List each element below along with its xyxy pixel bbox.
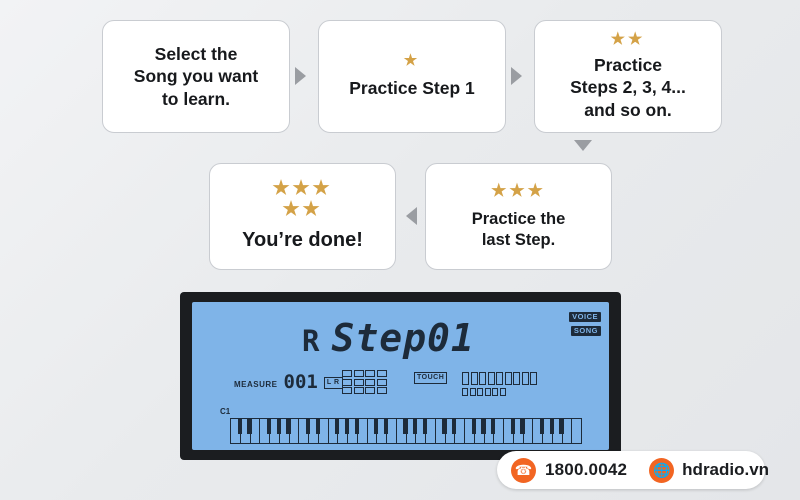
arrow-right-icon: [295, 67, 306, 85]
piano-key: [387, 419, 397, 443]
piano-key: [426, 419, 436, 443]
lcd-track-label: R: [302, 324, 319, 358]
lcd-step-value: Step01: [331, 316, 474, 360]
meter-bar: [496, 372, 503, 385]
piano-key: [397, 419, 407, 443]
arrow-right-icon: [511, 67, 522, 85]
chord-cell: [342, 387, 352, 394]
meter-bar: [479, 372, 486, 385]
piano-key: [514, 419, 524, 443]
indicator-cell: [492, 388, 498, 396]
lcd-piano-strip: [230, 418, 582, 444]
indicator-cell: [462, 388, 468, 396]
phone-icon: ☎: [511, 458, 536, 483]
star-rating-row-2: ★★: [282, 200, 322, 219]
flow-box-practice-step-1: ★ Practice Step 1: [318, 20, 506, 133]
chord-cell: [377, 379, 387, 386]
piano-key: [251, 419, 261, 443]
chord-cell: [354, 370, 364, 377]
lcd-octave-tick: C1: [220, 407, 230, 416]
chord-cell: [365, 387, 375, 394]
star-rating: ★★★: [272, 179, 332, 198]
chord-cell: [365, 370, 375, 377]
indicator-cell: [477, 388, 483, 396]
meter-bar: [530, 372, 537, 385]
lcd-voice-tag: VOICE: [569, 312, 601, 322]
globe-icon: 🌐: [649, 458, 674, 483]
piano-key: [563, 419, 573, 443]
piano-key: [280, 419, 290, 443]
piano-key: [455, 419, 465, 443]
piano-key: [572, 419, 581, 443]
indicator-cell: [485, 388, 491, 396]
piano-key: [348, 419, 358, 443]
piano-key: [475, 419, 485, 443]
flow-box-label: Practice Step 1: [349, 77, 474, 99]
star-rating: ★★: [611, 32, 646, 48]
flow-box-select-song: Select the Song you want to learn.: [102, 20, 290, 133]
piano-key: [368, 419, 378, 443]
arrow-left-icon: [406, 207, 417, 225]
chord-cell: [354, 379, 364, 386]
diagram-page: Select the Song you want to learn. ★ Pra…: [0, 0, 800, 500]
lcd-measure-label: MEASURE: [234, 380, 278, 391]
lcd-touch-indicator: TOUCH: [414, 372, 447, 384]
piano-key: [270, 419, 280, 443]
lcd-lr-indicator: L R: [324, 377, 343, 389]
meter-bar: [462, 372, 469, 385]
indicator-cell: [470, 388, 476, 396]
piano-key: [309, 419, 319, 443]
piano-key: [338, 419, 348, 443]
lcd-measure-readout: MEASURE 001 L R: [234, 374, 343, 391]
chord-cell: [342, 379, 352, 386]
meter-bar: [522, 372, 529, 385]
flow-box-label: Select the Song you want to learn.: [134, 43, 258, 110]
piano-key: [290, 419, 300, 443]
lcd-step-readout: R Step01: [302, 316, 475, 360]
piano-key: [231, 419, 241, 443]
piano-key: [416, 419, 426, 443]
chord-cell: [342, 370, 352, 377]
piano-key: [329, 419, 339, 443]
piano-key: [319, 419, 329, 443]
lcd-measure-value: 001: [284, 374, 318, 391]
keyboard-device: R Step01 VOICE SONG MEASURE 001 L R: [180, 292, 621, 460]
meter-bar: [471, 372, 478, 385]
flow-box-practice-steps-2-3-4: ★★ Practice Steps 2, 3, 4... and so on.: [534, 20, 722, 133]
piano-key: [504, 419, 514, 443]
chord-cell: [377, 370, 387, 377]
flow-box-label: Practice the last Step.: [472, 209, 566, 251]
badge-phone-number: 1800.0042: [545, 460, 627, 480]
star-rating: ★: [404, 53, 420, 68]
piano-key: [533, 419, 543, 443]
arrow-down-icon: [574, 140, 592, 151]
meter-bar: [505, 372, 512, 385]
piano-key: [553, 419, 563, 443]
piano-key: [524, 419, 534, 443]
indicator-cell: [500, 388, 506, 396]
flow-box-youre-done: ★★★ ★★ You’re done!: [209, 163, 396, 270]
piano-key: [260, 419, 270, 443]
flow-box-practice-last-step: ★★★ Practice the last Step.: [425, 163, 612, 270]
chord-cell: [354, 387, 364, 394]
piano-key: [358, 419, 368, 443]
contact-badge: ☎ 1800.0042 🌐 hdradio.vn: [497, 451, 765, 489]
flow-box-label: Practice Steps 2, 3, 4... and so on.: [570, 54, 686, 121]
piano-key: [299, 419, 309, 443]
piano-key: [485, 419, 495, 443]
piano-key: [436, 419, 446, 443]
piano-key: [494, 419, 504, 443]
lcd-chord-grid: [342, 370, 387, 394]
star-rating: ★★★: [491, 182, 546, 199]
flow-box-label: You’re done!: [242, 228, 363, 254]
piano-key: [446, 419, 456, 443]
piano-key: [465, 419, 475, 443]
piano-key: [407, 419, 417, 443]
lcd-screen: R Step01 VOICE SONG MEASURE 001 L R: [192, 302, 609, 450]
piano-key: [377, 419, 387, 443]
lcd-bar-meter: [462, 372, 537, 385]
chord-cell: [377, 387, 387, 394]
meter-bar: [488, 372, 495, 385]
chord-cell: [365, 379, 375, 386]
meter-bar: [513, 372, 520, 385]
badge-website: hdradio.vn: [682, 460, 769, 480]
lcd-song-tag: SONG: [571, 326, 601, 336]
piano-key: [241, 419, 251, 443]
lcd-small-indicator-row: [462, 388, 506, 396]
piano-key: [543, 419, 553, 443]
